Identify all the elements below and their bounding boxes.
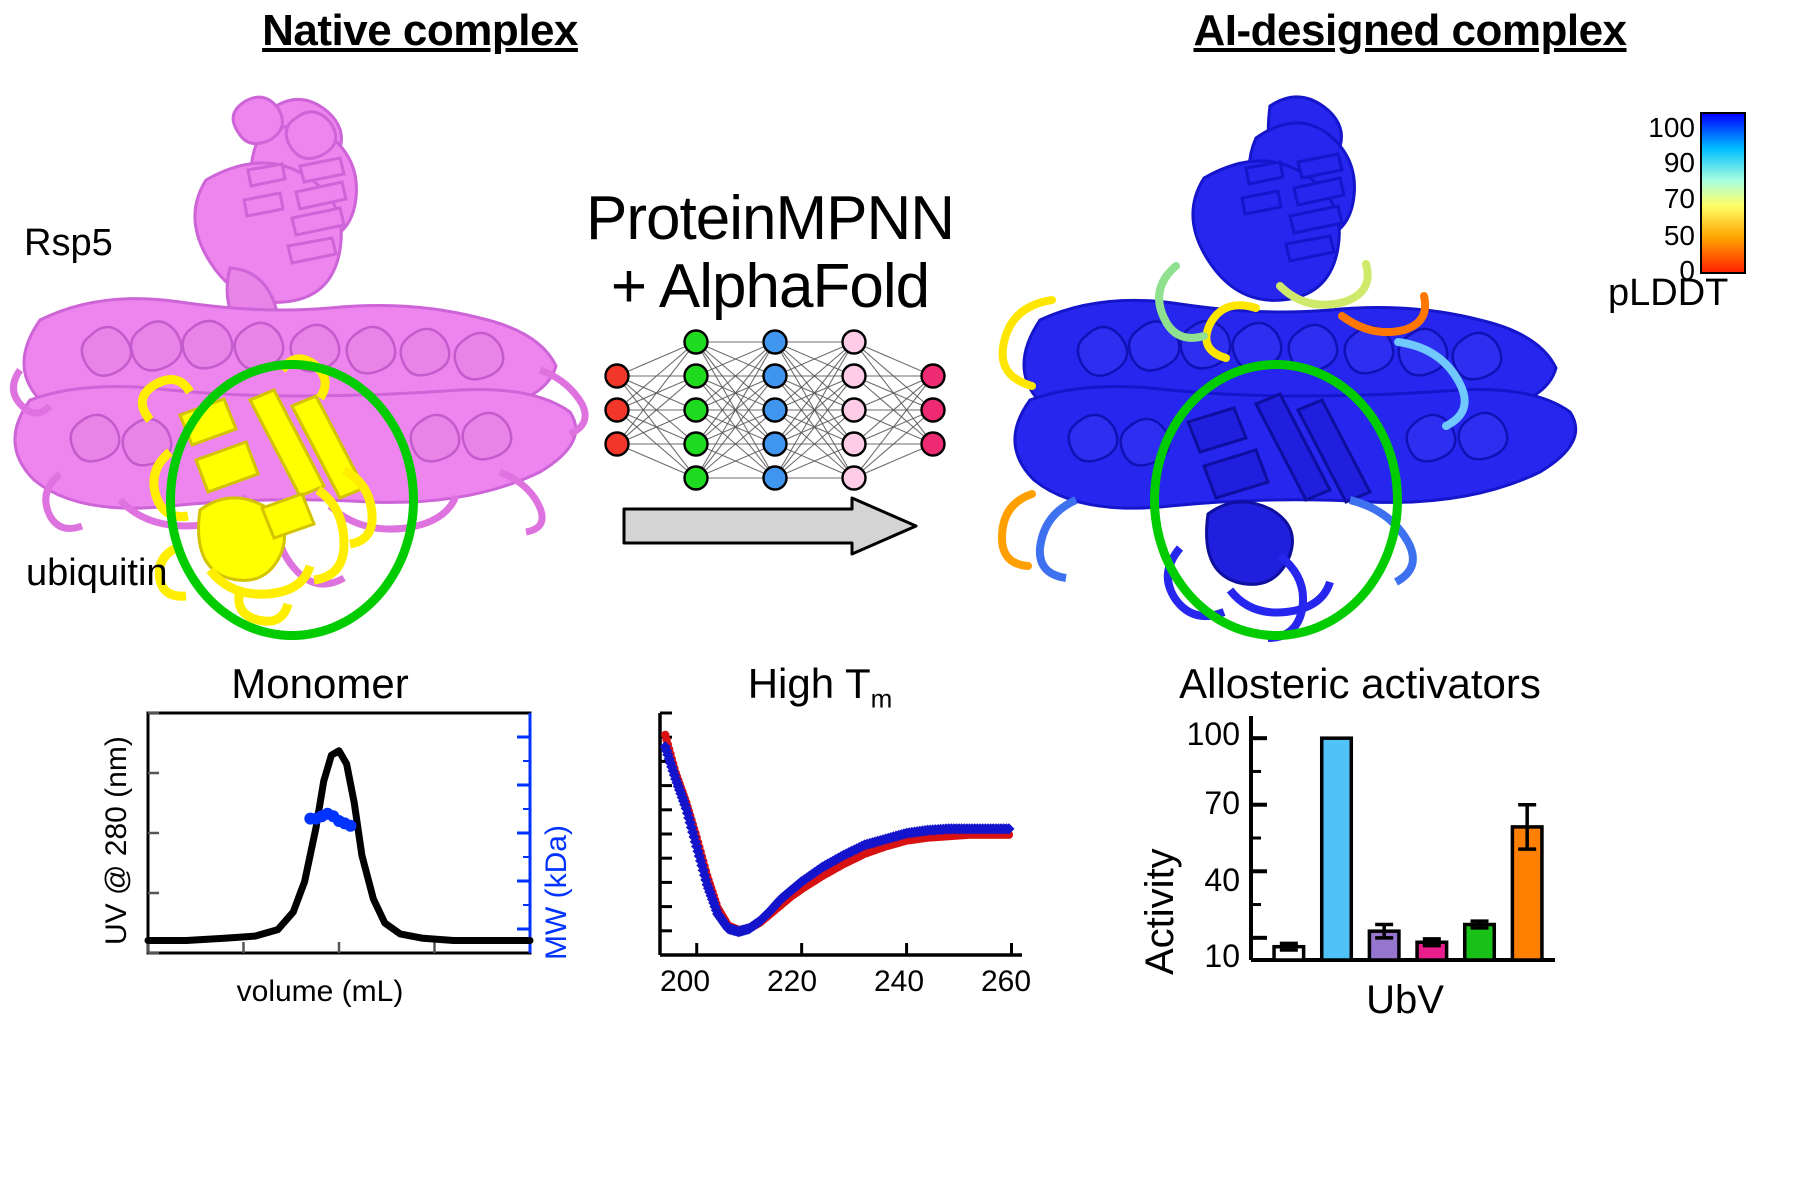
process-arrow-icon [620,495,920,557]
right-panel-header: AI-designed complex [1040,6,1780,56]
right-highlight-circle [1150,360,1402,640]
plddt-legend-label: pLDDT [1608,272,1728,315]
sec-xlabel: volume (mL) [150,975,490,1009]
plddt-tick-70: 70 [1645,183,1695,215]
bar-chart-xlabel: UbV [1255,978,1555,1023]
bar-chart-ytick-10: 10 [1175,938,1240,975]
left-highlight-circle [166,360,418,640]
ubiquitin-label: ubiquitin [26,552,168,595]
bar-chart-ytick-70: 70 [1175,785,1240,822]
bar-chart-title: Allosteric activators [1080,660,1640,708]
bar-chart [1245,710,1565,980]
method-line-1: ProteinMPNN [560,186,980,251]
method-line-2: + AlphaFold [560,254,980,319]
plddt-tick-50: 50 [1645,220,1695,252]
cd-xtick-260: 260 [981,965,1031,999]
plddt-tick-100: 100 [1645,112,1695,144]
cd-xtick-240: 240 [874,965,924,999]
cd-chart [620,705,1040,975]
bar-chart-ytick-40: 40 [1175,862,1240,899]
sec-y2label: MW (kDa) [540,790,574,960]
plddt-colorbar [1700,112,1746,274]
sec-ylabel: UV @ 280 (nm) [100,735,134,945]
cd-xtick-200: 200 [660,965,710,999]
cd-xtick-220: 220 [767,965,817,999]
plddt-tick-90: 90 [1645,147,1695,179]
sec-chart [100,705,580,975]
rsp5-label: Rsp5 [24,222,113,265]
cd-title-text: High T [748,660,871,707]
neural-network-diagram [595,320,955,500]
sec-chart-title: Monomer [140,660,500,708]
bar-chart-ytick-100: 100 [1175,716,1240,753]
left-panel-header: Native complex [60,6,780,56]
